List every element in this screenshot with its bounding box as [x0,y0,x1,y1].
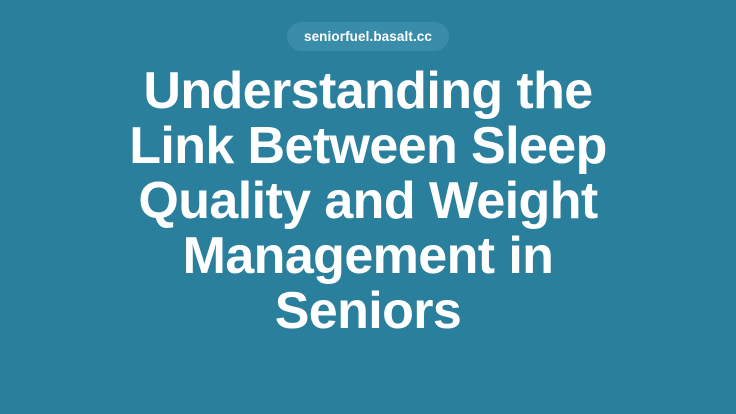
headline-line-2: Link Between Sleep [70,119,666,174]
headline-line-3: Quality and Weight [70,174,666,229]
headline-line-5: Seniors [70,284,666,339]
domain-badge[interactable]: seniorfuel.basalt.cc [287,22,449,51]
share-card: seniorfuel.basalt.cc Understanding the L… [0,0,736,414]
headline-line-1: Understanding the [70,64,666,119]
page-title: Understanding the Link Between Sleep Qua… [0,64,736,339]
headline-line-4: Management in [70,229,666,284]
